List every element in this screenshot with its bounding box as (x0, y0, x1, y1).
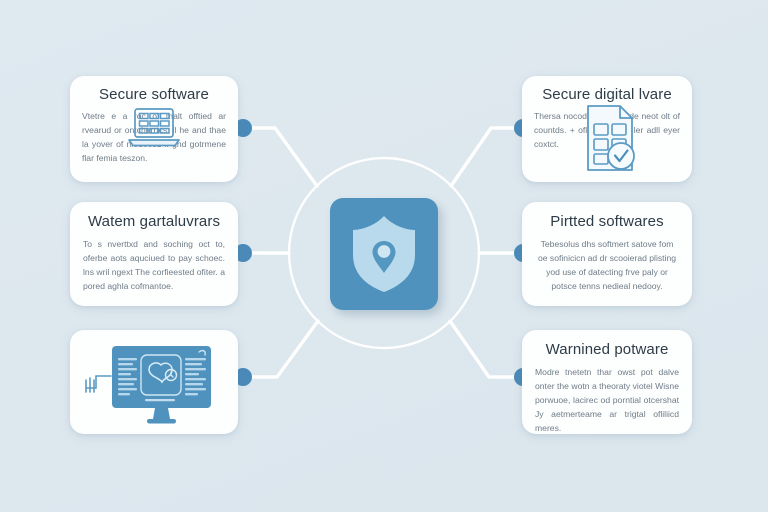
card-body: Thersa nocod thes neclude neot olt of co… (534, 110, 680, 152)
connector-line-bottom-right (450, 321, 523, 377)
card-secure-digital[interactable]: Secure digital lvare Thersa nocod thes (522, 76, 692, 182)
card-body: Vtetre e a roc of malt offtied ar rvearu… (82, 110, 226, 166)
card-secure-software[interactable]: Secure software Vtetre e a (70, 76, 238, 182)
card-title: Watem gartaluvrars (83, 213, 225, 230)
card-body: To s nverttxd and soching oct to, oferbe… (83, 238, 225, 294)
connector-line-bottom-left (243, 321, 318, 377)
shield-with-location-pin-icon (347, 213, 421, 295)
card-monitor-illustration[interactable] (70, 330, 238, 434)
card-title: Secure software (82, 86, 226, 103)
card-title: Warnined potware (535, 341, 679, 358)
infographic-canvas: Secure software Vtetre e a (0, 0, 768, 512)
card-warnined-potware[interactable]: Warnined potware Modre tnetetn thar owst… (522, 330, 692, 434)
connector-line-top-left (243, 128, 317, 186)
card-body: Modre tnetetn thar owst pot dalve onter … (535, 366, 679, 434)
center-hub[interactable] (330, 198, 438, 310)
card-body: Tebesolus dhs softmert satove fom oe sof… (535, 238, 679, 294)
card-title: Pirtted softwares (535, 213, 679, 230)
monitor-report-icon (79, 336, 229, 428)
card-title: Secure digital lvare (534, 86, 680, 103)
card-pirtted-softwares[interactable]: Pirtted softwares Tebesolus dhs softmert… (522, 202, 692, 306)
card-watem-gartaluvrars[interactable]: Watem gartaluvrars To s nverttxd and soc… (70, 202, 238, 306)
connector-line-top-right (451, 128, 523, 186)
